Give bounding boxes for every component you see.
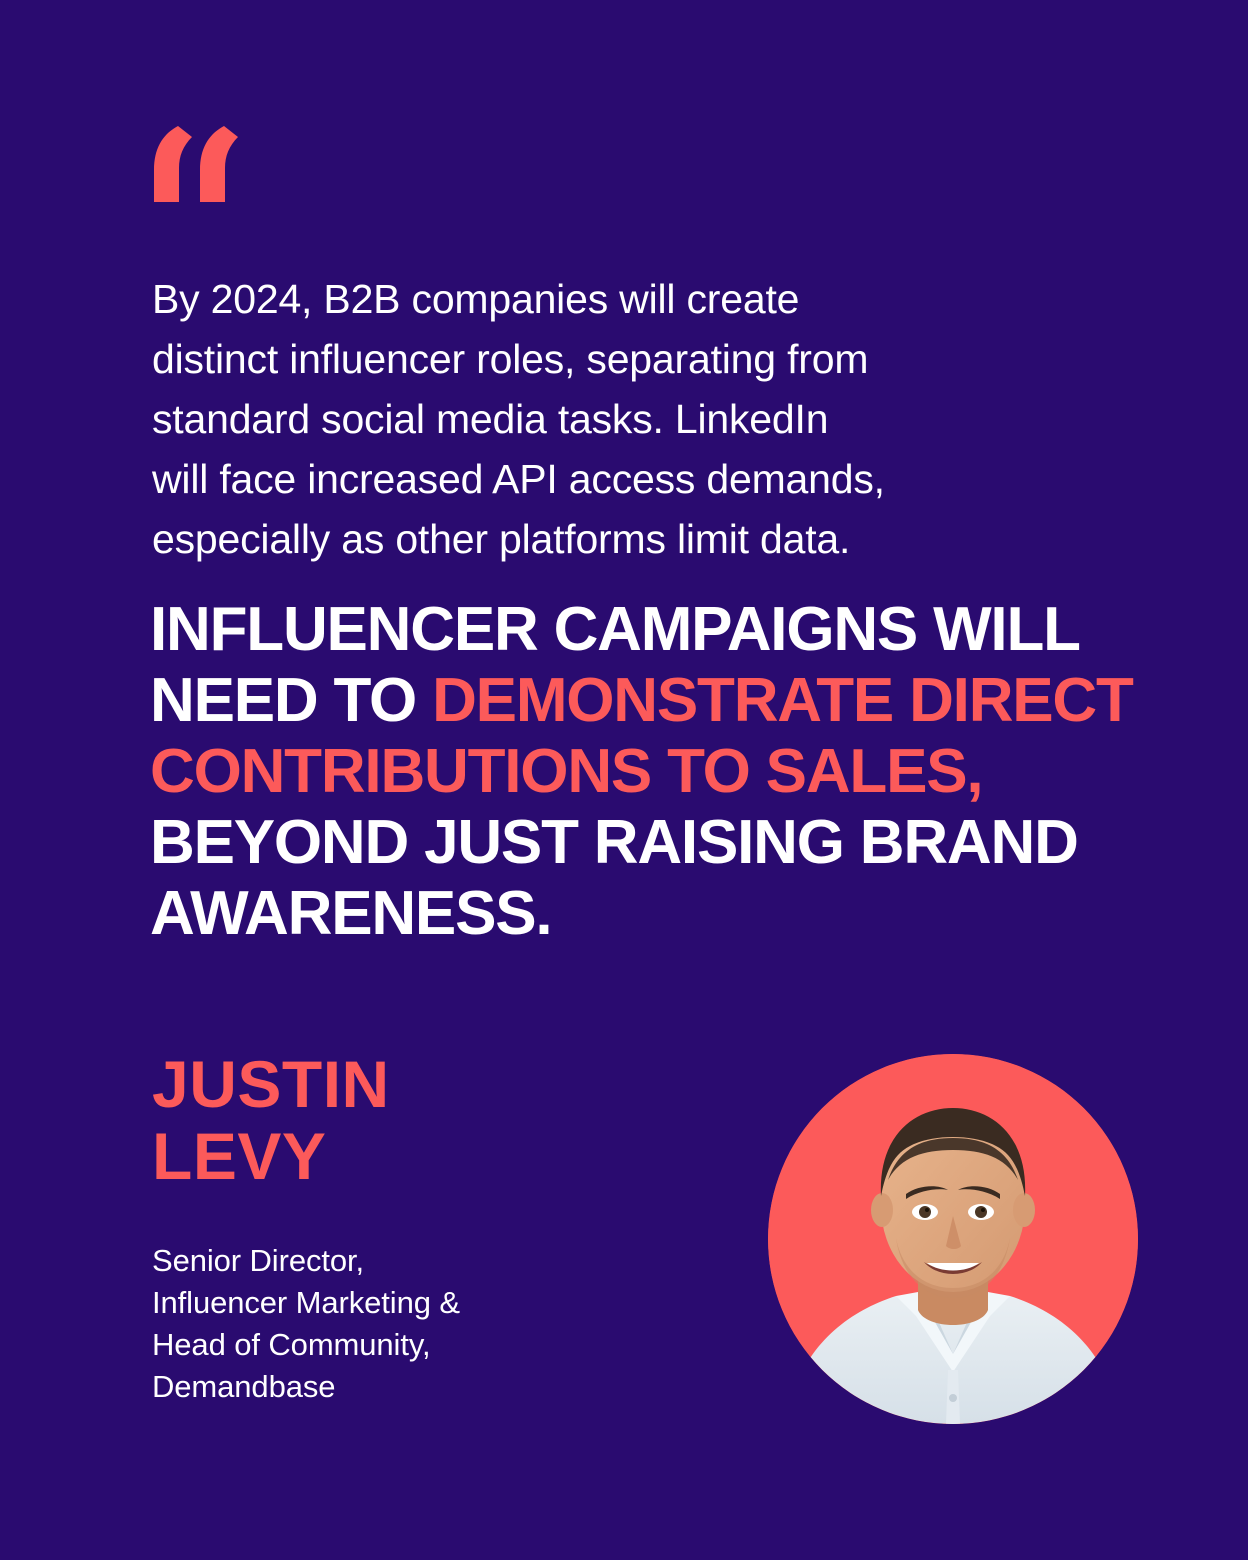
quote-card: By 2024, B2B companies will create disti… bbox=[0, 0, 1248, 1560]
avatar bbox=[768, 1054, 1138, 1424]
double-quote-icon bbox=[152, 126, 238, 202]
person-role: Senior Director, Influencer Marketing & … bbox=[152, 1240, 712, 1408]
headline-segment-3: beyond just raising brand awareness. bbox=[150, 808, 1078, 948]
headline: Influencer campaigns will need to demons… bbox=[150, 594, 1180, 949]
person-name: Justin Levy bbox=[152, 1048, 712, 1192]
quote-body-text: By 2024, B2B companies will create disti… bbox=[152, 269, 1152, 569]
